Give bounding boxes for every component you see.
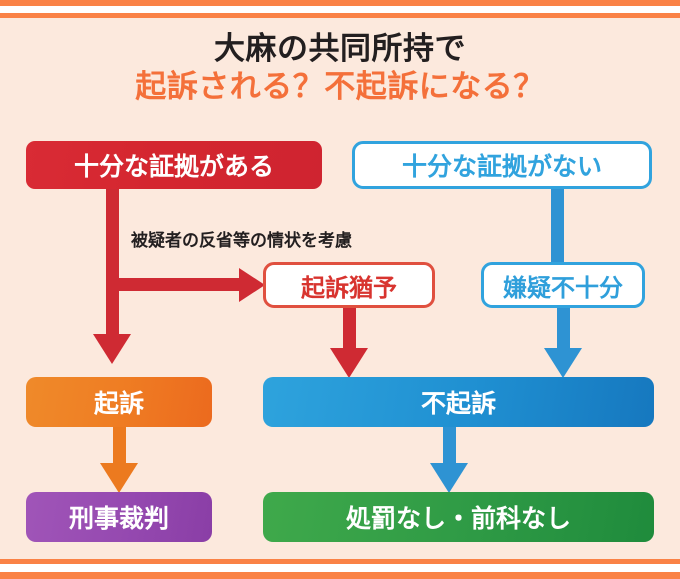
title-line-accent: 起訴される？不起訴になる？ [0,68,680,106]
bottom-border-bar-thick [0,572,680,579]
node-non-prosecute: 不起訴 [263,377,654,427]
arrowhead-right-to-suspended-icon [239,268,265,302]
connector-prosecute-to-trial [113,427,126,463]
infographic-canvas: 大麻の共同所持で 起訴される？不起訴になる？ 被疑者の反省等の情状を考慮 十分な… [0,0,680,579]
arrowhead-prosecute-to-trial-icon [100,463,138,493]
node-insufficient-suspicion: 嫌疑不十分 [481,262,645,308]
node-criminal-trial: 刑事裁判 [26,492,212,542]
arrowhead-down-to-prosecute-icon [93,334,131,364]
annotation-consideration: 被疑者の反省等の情状を考慮 [131,226,352,251]
connector-evidence-no-to-insufficient [551,189,564,262]
connector-insufficient-to-non-prosecute [557,308,570,348]
node-evidence-no: 十分な証拠がない [352,141,652,189]
arrowhead-suspended-to-non-prosecute-icon [330,348,368,378]
title-line-primary: 大麻の共同所持で [0,30,680,68]
connector-evidence-yes-to-suspended [106,278,251,291]
arrowhead-insufficient-to-non-prosecute-icon [544,348,582,378]
node-suspended-prosecution: 起訴猶予 [263,262,435,308]
node-no-punishment: 処罰なし・前科なし [263,492,654,542]
connector-suspended-to-non-prosecute [343,308,356,348]
top-border-gap [0,6,680,13]
node-prosecute: 起訴 [26,377,212,427]
arrowhead-non-prosecute-to-no-punishment-icon [430,463,468,493]
node-evidence-yes: 十分な証拠がある [26,141,322,189]
page-title: 大麻の共同所持で 起訴される？不起訴になる？ [0,30,680,106]
bottom-border-gap [0,564,680,572]
connector-evidence-yes-to-prosecute [106,189,119,334]
connector-non-prosecute-to-no-punishment [443,427,456,463]
top-border-bar-thin [0,13,680,18]
